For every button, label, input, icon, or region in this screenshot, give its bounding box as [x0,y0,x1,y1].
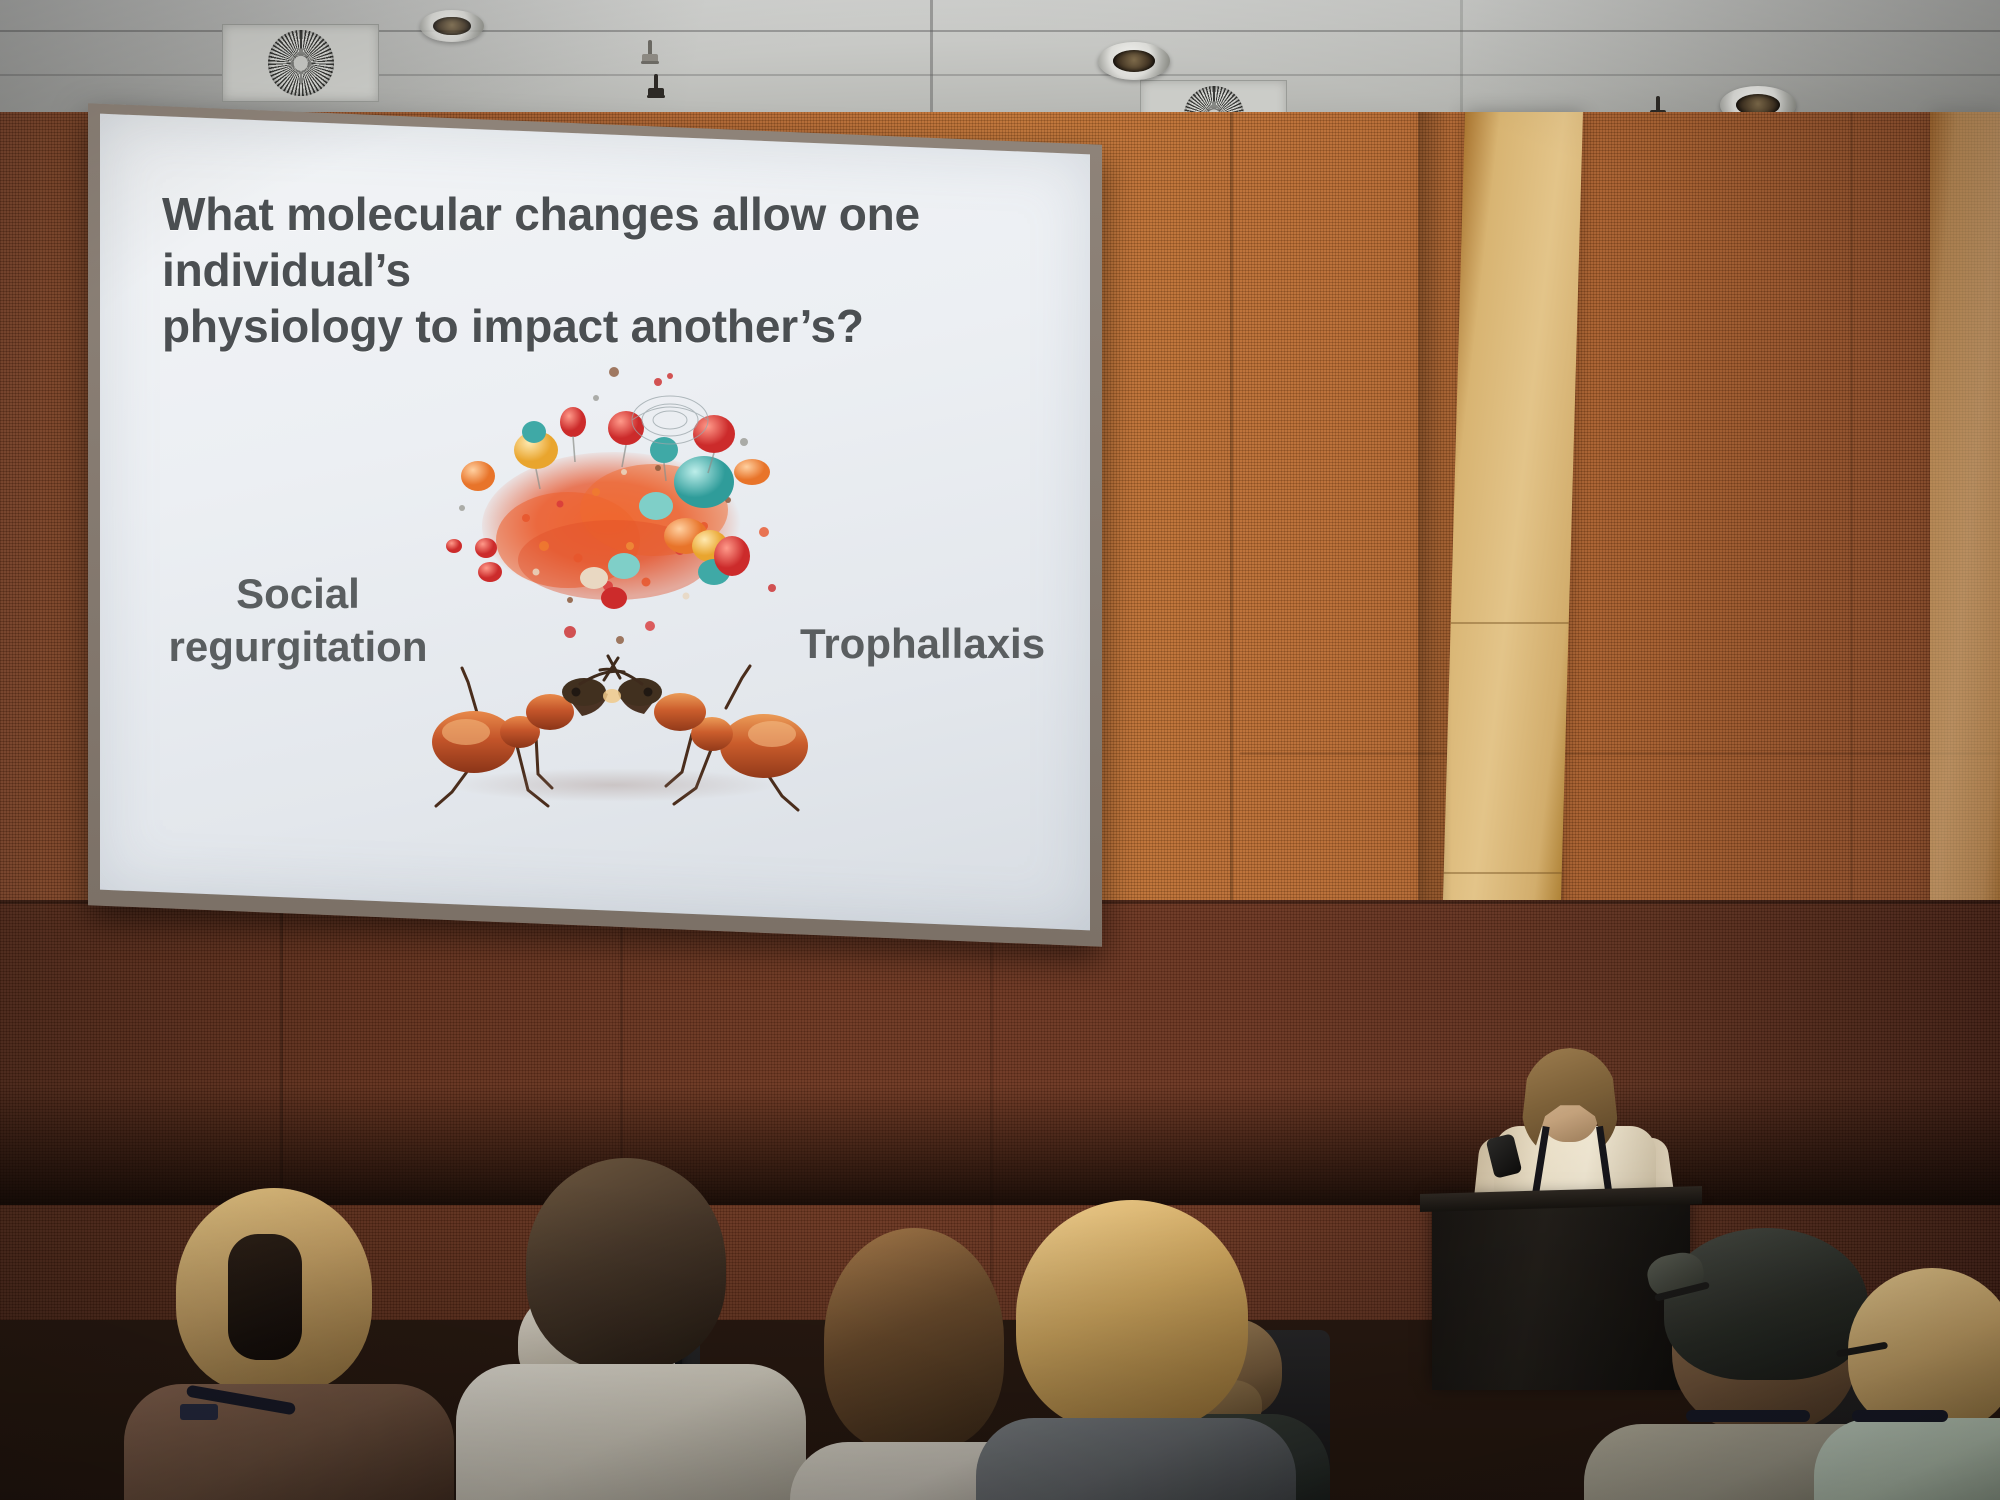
slide-label-trophallaxis: Trophallaxis [800,620,1090,668]
audience-head [1016,1200,1248,1432]
ants-pair [408,650,828,830]
projection-screen-frame: What molecular changes allow one individ… [88,103,1102,947]
slide-label-line-2: regurgitation [148,621,448,674]
air-vent-diffuser [222,24,379,102]
audience-shoulders [456,1364,806,1500]
audience-member-8 [1830,1268,2000,1500]
two-ants-icon [408,650,828,830]
slide-label-social-regurgitation: Social regurgitation [148,568,448,673]
slide-title-line-1: What molecular changes allow one individ… [162,186,1042,298]
hair-clip [228,1234,302,1360]
audience-member-1 [150,1188,440,1500]
badge-tag [180,1404,218,1420]
audience-head [526,1158,726,1370]
projection-screen-surface: What molecular changes allow one individ… [100,114,1090,931]
audience-member-2 [490,1158,790,1500]
audience-lanyard [1686,1410,1810,1422]
slide: What molecular changes allow one individ… [100,150,1090,926]
lecture-hall-photo: What molecular changes allow one individ… [0,0,2000,1500]
audience-shoulders [976,1418,1296,1500]
slide-label-line-1: Social [148,568,448,621]
slide-title: What molecular changes allow one individ… [162,186,1042,354]
audience-member-4 [990,1200,1310,1500]
trophallaxis-illustration [418,350,818,830]
fire-sprinkler [640,40,660,70]
recessed-downlight [1098,42,1170,80]
audience-head [824,1228,1004,1450]
recessed-downlight [420,10,484,42]
ant-shadow [448,768,778,802]
audience-shoulders [1814,1418,2000,1500]
audience-lanyard [1852,1410,1948,1422]
fire-sprinkler [646,74,666,104]
molecule-cloud-icon [418,350,818,670]
slide-title-line-2: physiology to impact another’s? [162,298,1042,354]
